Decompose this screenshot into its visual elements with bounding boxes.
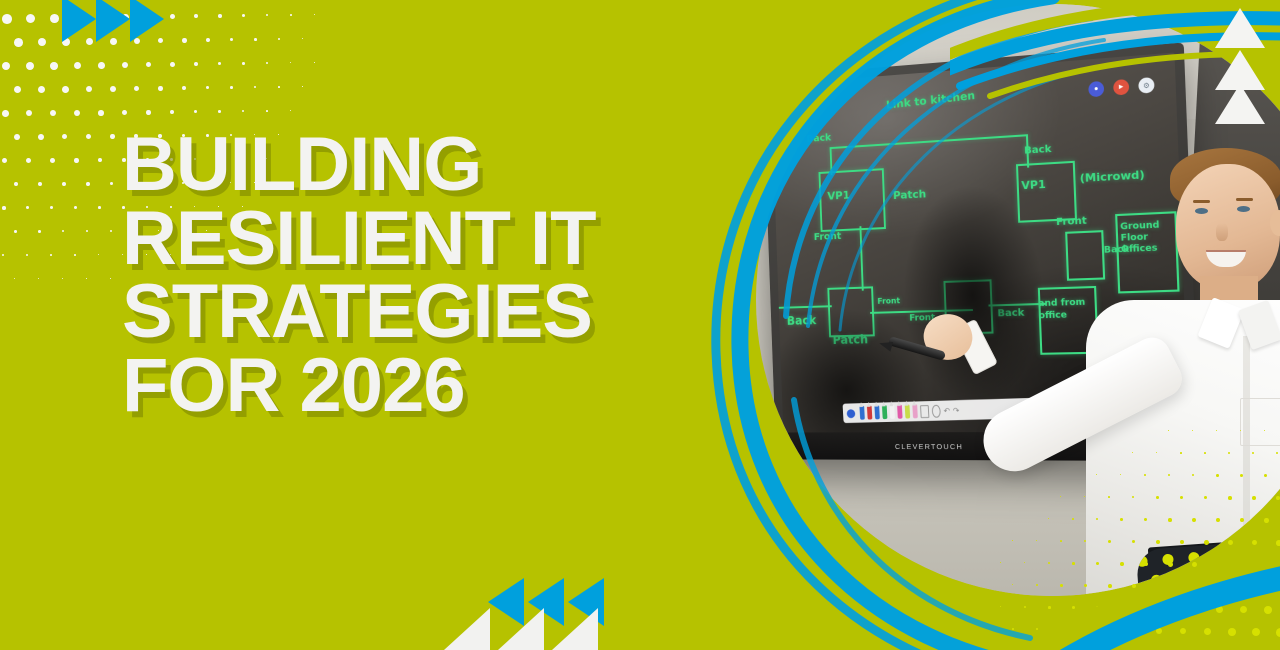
halftone-dot [302,38,303,39]
halftone-dot [254,86,256,88]
device-brand-label: CLEVERTOUCH [895,442,963,451]
halftone-dot [182,86,186,90]
halftone-dot [194,14,198,18]
ink-heading: Link to kitchen [885,89,975,112]
halftone-dot [26,62,34,70]
halftone-dot [278,38,280,40]
halftone-dot [170,62,175,67]
ink-connector [859,227,863,291]
halftone-dot [194,62,198,66]
halftone-dot [206,86,209,89]
trouser-dot [1142,635,1154,647]
photo-circle-mask: Link to kitchen Back VP1 Patch Back VP1 … [722,0,1280,650]
trouser-dot [1162,554,1174,566]
halftone-dot [86,278,87,279]
halftone-dot [146,62,151,67]
trouser-dot [1254,567,1266,579]
halftone-dot [218,14,222,18]
ink-label: Back [1024,144,1052,157]
trouser-dot [1266,546,1278,558]
pen-blue[interactable] [859,406,864,420]
halftone-dot [38,278,39,279]
trouser-dot [1217,590,1229,602]
halftone-dot [278,86,280,88]
halftone-dot [14,86,21,93]
presenter [1064,78,1280,650]
halftone-dot [110,182,113,185]
halftone-dot [122,62,128,68]
trouser-dot [1136,555,1148,567]
trouser-dot [1231,609,1243,621]
halftone-dot [2,14,12,24]
halftone-dot [146,110,151,115]
halftone-dot [170,14,175,19]
headline-line-3: STRATEGIES [122,275,722,349]
head [1176,164,1280,290]
pen-green[interactable] [882,405,888,419]
halftone-dot [62,134,67,139]
pen-white[interactable] [889,405,895,419]
halftone-dot [266,62,268,64]
halftone-dot [242,62,245,65]
wedge-shape [552,608,598,650]
trouser-dot [1202,571,1214,583]
trouser-dot [1228,569,1240,581]
halftone-dot [2,62,10,70]
halftone-dot [50,254,52,256]
halftone-dot [26,14,35,23]
halftone-dot [74,206,77,209]
ink-label: Back [806,133,831,145]
halftone-dot [194,110,197,113]
trouser-dot [1168,633,1180,645]
halftone-dot [218,62,221,65]
halftone-dot [254,38,257,41]
halftone-dot [26,206,29,209]
trouser-dot [1243,588,1255,600]
trouser-dot [1179,613,1191,625]
headline-line-4: FOR 2026 [122,349,722,423]
pen-blue-2[interactable] [874,406,879,420]
page-title: BUILDING RESILIENT IT STRATEGIES FOR 202… [122,128,722,423]
headline-line-1: BUILDING [122,128,722,202]
trouser-dot [1214,550,1226,562]
halftone-dot [86,86,92,92]
halftone-dot [38,134,44,140]
halftone-dot [62,182,66,186]
halftone-dot [170,110,174,114]
halftone-dot [74,62,81,69]
shapes-icon[interactable] [920,405,929,418]
halftone-dot [26,110,32,116]
halftone-dot [110,86,116,92]
pen-lime[interactable] [905,405,911,419]
halftone-dot [266,110,268,112]
halftone-dot [98,110,104,116]
trouser-dot [1220,630,1232,642]
shirt-placket [1243,336,1250,586]
halftone-dot [38,86,45,93]
halftone-dot [86,182,90,186]
halftone-dot [98,158,102,162]
halftone-dot [14,38,23,47]
halftone-dot [86,134,91,139]
triangle-right-icon [62,0,96,42]
redo-icon[interactable]: ↷ [953,406,960,415]
halftone-dot [14,278,15,279]
trouser-dot [1139,595,1151,607]
wedge-shape [444,608,490,650]
halftone-dot [242,14,245,17]
halftone-dot [302,86,303,87]
select-icon[interactable] [931,404,940,417]
trouser-dot [1257,607,1269,619]
wedge-shape [498,608,544,650]
halftone-dot [74,158,79,163]
eye-right [1237,206,1250,212]
halftone-dot [98,254,99,255]
eraser-icon[interactable] [912,404,918,418]
eye-left [1195,208,1208,214]
halftone-dot [218,110,221,113]
halftone-dot [38,182,42,186]
halftone-dot [50,158,55,163]
ink-connector [829,134,1027,149]
triangle-up-icon [1215,8,1265,48]
trouser-dot [1191,592,1203,604]
halftone-dot [86,230,88,232]
halftone-dot [110,278,111,279]
trouser-dot [1240,548,1252,560]
halftone-dot [110,230,112,232]
halftone-dot [134,86,139,91]
halftone-dot [38,38,46,46]
halftone-dot [314,14,315,15]
shirt-pocket [1240,398,1280,446]
halftone-dot [74,254,76,256]
active-tool-indicator[interactable] [846,409,855,418]
undo-icon[interactable]: ↶ [943,406,950,415]
halftone-dot [2,254,4,256]
halftone-dot [26,254,28,256]
halftone-dot [38,230,41,233]
halftone-dot [230,38,233,41]
halftone-dot [74,110,80,116]
triangle-right-icon [130,0,164,42]
halftone-dot [314,62,315,63]
halftone-dot [242,110,244,112]
halftone-dot [290,14,292,16]
halftone-dot [2,110,9,117]
hero-photo: Link to kitchen Back VP1 Patch Back VP1 … [700,0,1280,650]
trouser-dot [1245,628,1257,640]
halftone-dot [230,86,233,89]
trouser-dot [1271,626,1280,638]
halftone-dot [266,14,268,16]
halftone-dot [14,230,17,233]
eyebrow-right [1236,198,1253,201]
halftone-dot [50,62,58,70]
halftone-dot [26,158,31,163]
halftone-dot [182,38,187,43]
halftone-dot [50,110,56,116]
trouser-dot [1188,552,1200,564]
pen-red[interactable] [867,406,872,420]
ink-label: VP1 [827,188,850,202]
halftone-dot [62,86,69,93]
halftone-dot [2,158,7,163]
shirt-torso [1086,300,1280,630]
halftone-dot [14,134,20,140]
trouser-dot [1176,573,1188,585]
ink-label: Front [814,231,842,243]
triangle-right-icon [96,0,130,42]
halftone-dot [50,206,53,209]
trouser-dot [1205,611,1217,623]
halftone-dot [62,278,63,279]
halftone-dot [290,62,291,63]
nose [1216,223,1228,241]
halftone-dot [62,230,64,232]
trouser-dot [1269,586,1280,598]
halftone-dot [206,38,210,42]
halftone-dot [290,110,291,111]
polka-dot-trousers [1136,534,1280,650]
halftone-dot [110,134,115,139]
halftone-dot [122,110,127,115]
pen-pink[interactable] [897,405,903,419]
halftone-dot [98,206,101,209]
triangle-up-icon [1215,84,1265,124]
halftone-dot [50,14,59,23]
halftone-dot [98,62,105,69]
halftone-dot [158,86,163,91]
trouser-dot [1153,614,1165,626]
eyebrow-left [1193,200,1210,203]
banner-canvas: BUILDING RESILIENT IT STRATEGIES FOR 202… [0,0,1280,650]
halftone-dot [0,0,1,1]
trouser-dot [1151,574,1163,586]
trouser-dot [1194,632,1206,644]
halftone-dot [14,182,18,186]
halftone-dot [2,206,6,210]
headline-line-2: RESILIENT IT [122,202,722,276]
trouser-dot [1165,593,1177,605]
